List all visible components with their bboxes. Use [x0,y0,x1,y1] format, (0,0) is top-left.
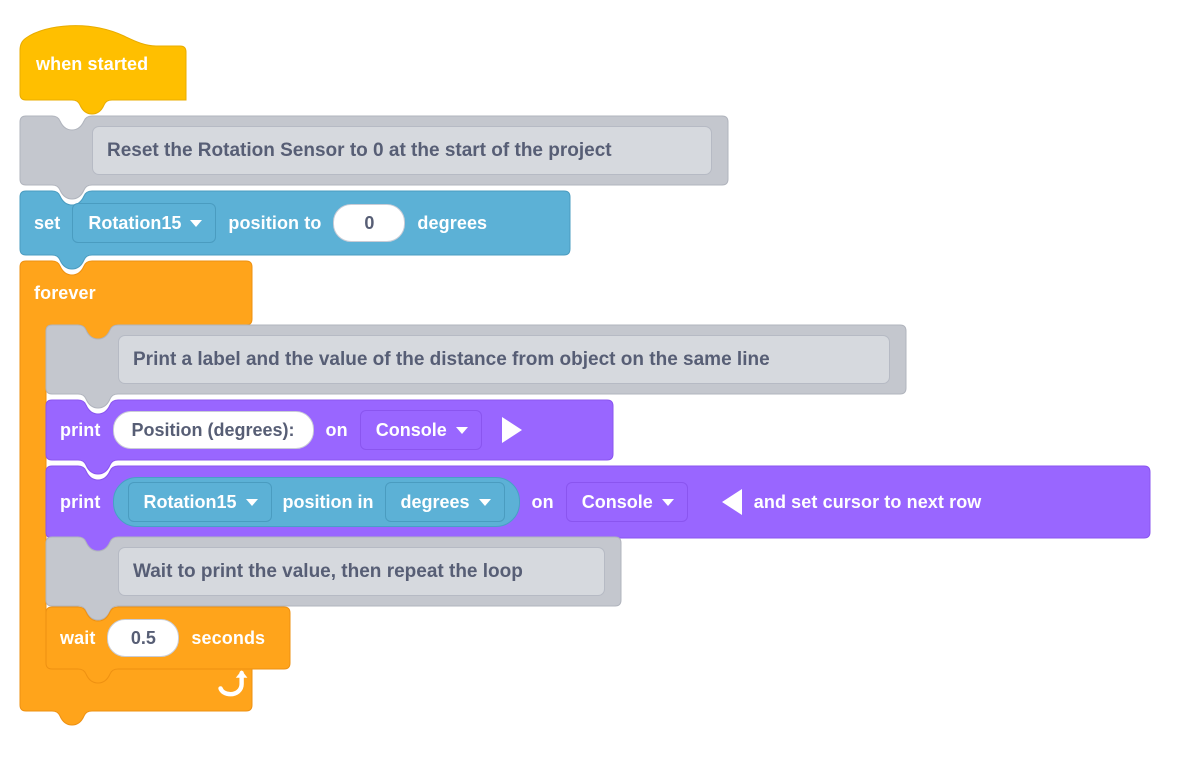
device-dropdown-value: Rotation15 [88,213,181,234]
triangle-left-icon[interactable] [722,489,742,515]
block-set-rotation-position[interactable]: set Rotation15 position to 0 degrees [20,191,570,261]
comment-3-text: Wait to print the value, then repeat the… [133,561,523,583]
comment-2-text: Print a label and the value of the dista… [133,349,770,371]
position-value: 0 [364,213,374,234]
seconds-label: seconds [191,628,265,649]
block-print-message[interactable]: print Position (degrees): on Console [46,400,613,466]
comment-block-3[interactable]: Wait to print the value, then repeat the… [46,537,621,612]
print-message-value: Position (degrees): [132,420,295,441]
comment-3-field[interactable]: Wait to print the value, then repeat the… [118,547,605,596]
degrees-label: degrees [417,213,487,234]
print-message-input[interactable]: Position (degrees): [113,411,314,449]
wait-duration-value: 0.5 [131,628,156,649]
position-to-label: position to [228,213,321,234]
units-dropdown-value: degrees [401,492,470,513]
chevron-down-icon [456,427,468,434]
triangle-right-icon[interactable] [502,417,522,443]
comment-2-field[interactable]: Print a label and the value of the dista… [118,335,890,384]
on-label-2: on [532,492,554,513]
print-target-dropdown-1[interactable]: Console [360,410,482,450]
block-workspace[interactable]: when started Reset the Rotation Sensor t… [0,0,1178,764]
print-label-1: print [60,420,101,441]
print-label-2: print [60,492,101,513]
chevron-down-icon [190,220,202,227]
reporter-rotation-position[interactable]: Rotation15 position in degrees [113,477,520,527]
on-label-1: on [326,420,348,441]
device-dropdown-rotation15-2[interactable]: Rotation15 [128,482,272,522]
device-dropdown-value-2: Rotation15 [144,492,237,513]
print-target-value-2: Console [582,492,653,513]
wait-duration-input[interactable]: 0.5 [107,619,179,657]
comment-block-1[interactable]: Reset the Rotation Sensor to 0 at the st… [20,116,728,191]
position-value-input[interactable]: 0 [333,204,405,242]
set-label: set [34,213,60,234]
chevron-down-icon [246,499,258,506]
units-dropdown-degrees[interactable]: degrees [385,482,505,522]
position-in-label: position in [283,492,374,513]
block-wait-seconds[interactable]: wait 0.5 seconds [46,607,290,675]
wait-label: wait [60,628,95,649]
comment-1-text: Reset the Rotation Sensor to 0 at the st… [107,140,612,162]
next-row-label: and set cursor to next row [754,492,982,513]
print-target-dropdown-2[interactable]: Console [566,482,688,522]
comment-block-2[interactable]: Print a label and the value of the dista… [46,325,906,400]
forever-label: forever [34,283,96,304]
block-when-started[interactable]: when started [20,28,186,116]
print-target-value-1: Console [376,420,447,441]
comment-1-field[interactable]: Reset the Rotation Sensor to 0 at the st… [92,126,712,175]
chevron-down-icon [662,499,674,506]
device-dropdown-rotation15[interactable]: Rotation15 [72,203,216,243]
block-print-rotation-position[interactable]: print Rotation15 position in degrees on … [46,466,1150,544]
chevron-down-icon [479,499,491,506]
when-started-label: when started [36,54,148,75]
